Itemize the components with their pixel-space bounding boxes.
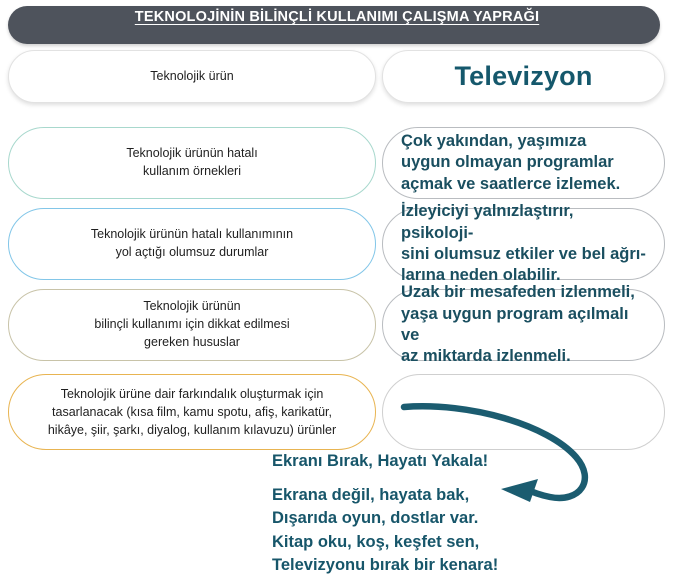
row-1-answer-card[interactable]: Televizyon [382,50,665,103]
row-4-answer-line-2: yaşa uygun program açılmalı ve [401,305,628,344]
row-2-answer-card[interactable]: Çok yakından, yaşımıza uygun olmayan pro… [382,127,665,199]
row-4-label-line-1: Teknolojik ürünün [143,299,240,313]
row-4-label-line-3: gereken hususlar [144,335,240,349]
row-2-label-card: Teknolojik ürünün hatalı kullanım örnekl… [8,127,376,199]
row-2-answer-line-1: Çok yakından, yaşımıza [401,132,586,150]
row-1-label-card: Teknolojik ürün [8,50,376,103]
poem-line: Dışarıda oyun, dostlar var. [272,507,674,530]
worksheet-page: TEKNOLOJİNİN BİLİNÇLİ KULLANIMI ÇALIŞMA … [0,0,674,586]
row-3-label-line-1: Teknolojik ürünün hatalı kullanımının [91,227,293,241]
row-4-answer-card[interactable]: Uzak bir mesafeden izlenmeli, yaşa uygun… [382,289,665,361]
row-4-label-text: Teknolojik ürünün bilinçli kullanımı içi… [94,298,289,351]
row-1-label-text: Teknolojik ürün [150,68,233,86]
poem-line: Kitap oku, koş, keşfet sen, [272,531,674,554]
row-3-answer-line-2: sini olumsuz etkiler ve bel ağrı- [401,245,646,263]
page-title: TEKNOLOJİNİN BİLİNÇLİ KULLANIMI ÇALIŞMA … [0,9,674,25]
row-5-label-line-1: Teknolojik ürüne dair farkındalık oluştu… [61,387,324,401]
row-2-label-text: Teknolojik ürünün hatalı kullanım örnekl… [126,145,257,181]
row-2-label-line-2: kullanım örnekleri [143,164,241,178]
poem-line: Televizyonu bırak bir kenara! [272,554,674,577]
row-1-answer-text: Televizyon [454,61,592,92]
row-3-answer-line-1: İzleyiciyi yalnızlaştırır, psikoloji- [401,202,573,241]
row-4-answer-text: Uzak bir mesafeden izlenmeli, yaşa uygun… [397,282,650,368]
row-4-answer-line-1: Uzak bir mesafeden izlenmeli, [401,283,635,301]
poem-line: Ekrana değil, hayata bak, [272,484,674,507]
row-4-answer-line-3: az miktarda izlenmeli. [401,347,571,365]
poem-title: Ekranı Bırak, Hayatı Yakala! [272,452,674,472]
row-3-answer-text: İzleyiciyi yalnızlaştırır, psikoloji- si… [397,201,650,287]
row-3-label-text: Teknolojik ürünün hatalı kullanımının yo… [91,226,293,262]
row-3-label-card: Teknolojik ürünün hatalı kullanımının yo… [8,208,376,280]
row-5-answer-card[interactable] [382,374,665,450]
row-2-label-line-1: Teknolojik ürünün hatalı [126,146,257,160]
row-2-answer-line-2: uygun olmayan programlar [401,153,614,171]
row-4-label-card: Teknolojik ürünün bilinçli kullanımı içi… [8,289,376,361]
row-2-answer-text: Çok yakından, yaşımıza uygun olmayan pro… [397,131,650,195]
row-5-label-text: Teknolojik ürüne dair farkındalık oluştu… [48,385,336,439]
poem-block: Ekranı Bırak, Hayatı Yakala! Ekrana deği… [272,452,674,577]
row-2-answer-line-3: açmak ve saatlerce izlemek. [401,175,620,193]
row-5-label-card: Teknolojik ürüne dair farkındalık oluştu… [8,374,376,450]
row-4-label-line-2: bilinçli kullanımı için dikkat edilmesi [94,317,289,331]
row-5-label-line-2: tasarlanacak (kısa film, kamu spotu, afi… [52,405,332,419]
row-5-label-line-3: hikâye, şiir, şarkı, diyalog, kullanım k… [48,423,336,437]
row-3-answer-card[interactable]: İzleyiciyi yalnızlaştırır, psikoloji- si… [382,208,665,280]
row-3-label-line-2: yol açtığı olumsuz durumlar [116,245,269,259]
